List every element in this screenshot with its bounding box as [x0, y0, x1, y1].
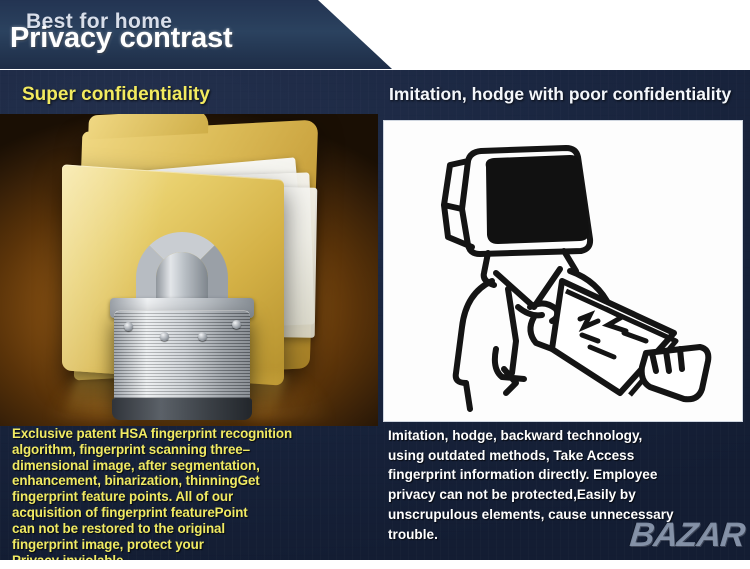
right-column-heading: Imitation, hodge with poor confidentiali… — [389, 84, 731, 105]
page-title: Privacy contrast — [10, 22, 232, 55]
padlock-folder-image — [0, 114, 378, 426]
padlock-body — [114, 310, 250, 412]
right-column-body: Imitation, hodge, backward technology, u… — [388, 426, 743, 544]
monitor-screen — [486, 155, 589, 244]
bottom-strip — [0, 560, 750, 569]
privacy-contrast-slide: Privacy contrast Best for home Super con… — [0, 0, 750, 569]
padlock-base — [112, 398, 252, 420]
left-column-heading: Super confidentiality — [22, 84, 210, 106]
padlock-icon — [114, 232, 250, 412]
padlock-rivet — [160, 332, 169, 341]
padlock-rivet — [232, 320, 241, 329]
monitor-head-person-sketch — [384, 121, 742, 421]
left-column-body: Exclusive patent HSA fingerprint recogni… — [12, 426, 382, 568]
sketch-illustration-image — [383, 120, 743, 422]
padlock-rivet — [198, 332, 207, 341]
padlock-rivet — [124, 322, 133, 331]
